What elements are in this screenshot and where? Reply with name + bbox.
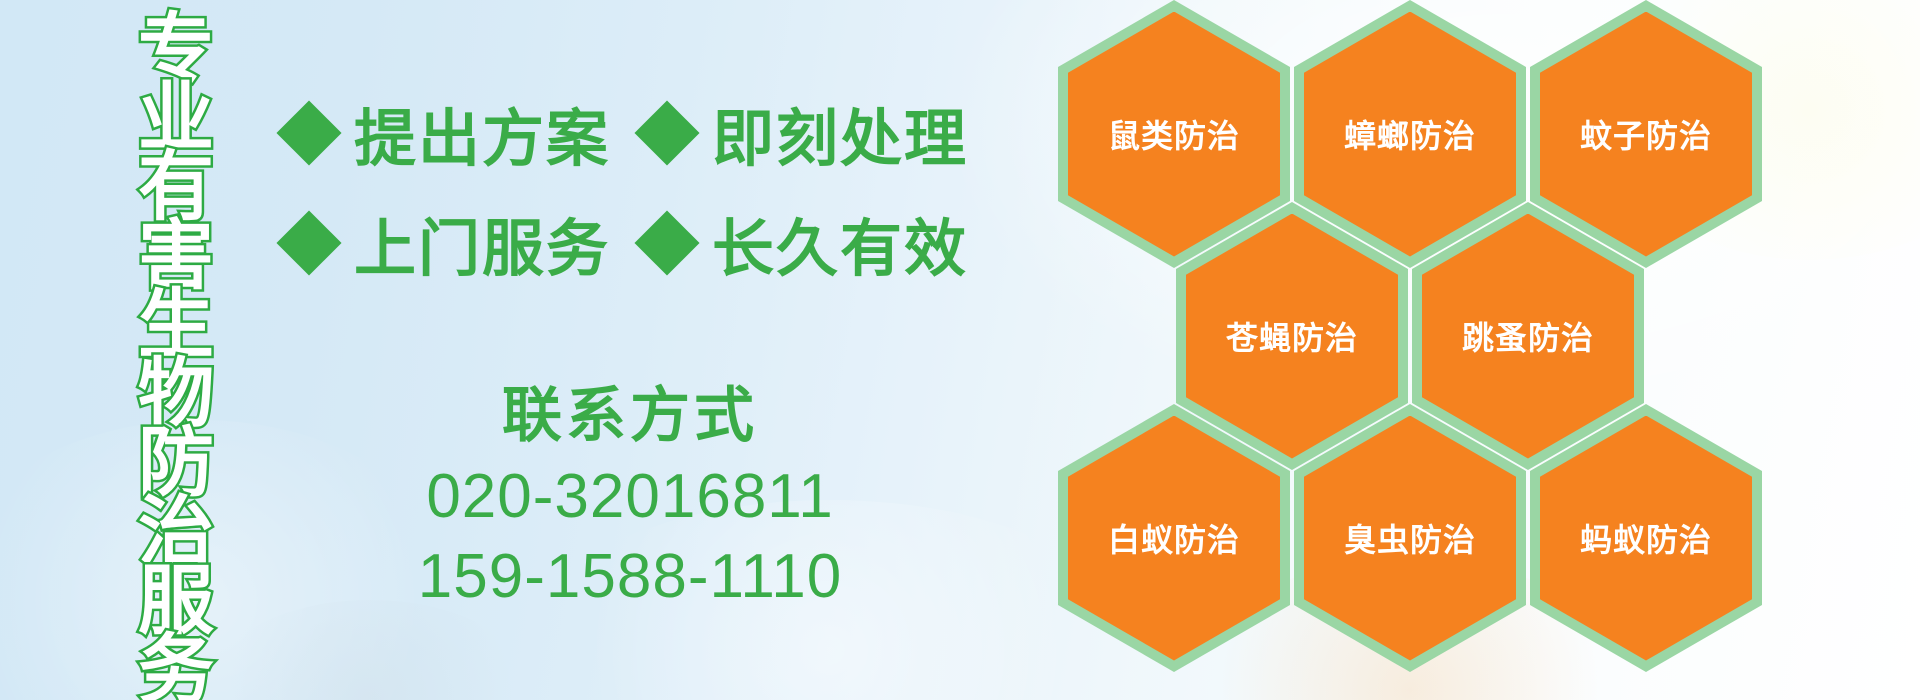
service-hex-grid: 鼠类防治 蟑螂防治 蚊子防治 苍蝇防治 跳蚤防治 白蚁防治 xyxy=(1058,0,1818,700)
contact-heading: 联系方式 xyxy=(300,382,960,449)
service-hex-label: 跳蚤防治 xyxy=(1462,313,1594,359)
service-hex-inner: 鼠类防治 xyxy=(1068,12,1280,257)
vertical-headline-char: 专 xyxy=(138,12,214,81)
service-hex-label: 白蚁防治 xyxy=(1108,515,1240,561)
service-hex-label: 蚂蚁防治 xyxy=(1580,515,1712,561)
vertical-headline-char: 务 xyxy=(138,633,214,700)
vertical-headline-char: 有 xyxy=(138,150,214,219)
service-hex-label: 苍蝇防治 xyxy=(1226,313,1358,359)
service-hex-inner: 臭虫防治 xyxy=(1304,416,1516,661)
service-hex-inner: 蟑螂防治 xyxy=(1304,12,1516,257)
vertical-headline-char: 生 xyxy=(138,288,214,357)
diamond-icon xyxy=(276,210,341,275)
contact-phone-mobile[interactable]: 159-1588-1110 xyxy=(300,537,960,616)
diamond-icon xyxy=(634,100,699,165)
vertical-headline-char: 物 xyxy=(138,357,214,426)
feature-item-label: 提出方案 xyxy=(354,88,610,178)
contact-block: 联系方式 020-32016811 159-1588-1110 xyxy=(300,382,960,616)
feature-item-label: 长久有效 xyxy=(712,198,968,288)
service-hex-inner: 蚊子防治 xyxy=(1540,12,1752,257)
service-hex-inner: 白蚁防治 xyxy=(1068,416,1280,661)
feature-row: 上门服务 长久有效 xyxy=(286,188,1046,298)
service-hex-inner: 跳蚤防治 xyxy=(1422,214,1634,459)
service-hex-label: 臭虫防治 xyxy=(1344,515,1476,561)
service-hex-label: 蚊子防治 xyxy=(1580,111,1712,157)
feature-item-label: 即刻处理 xyxy=(712,88,968,178)
feature-item-label: 上门服务 xyxy=(354,198,610,288)
vertical-headline-char: 业 xyxy=(138,81,214,150)
service-hex-label: 蟑螂防治 xyxy=(1344,111,1476,157)
service-hex-label: 鼠类防治 xyxy=(1108,111,1240,157)
pest-control-banner: 专 业 有 害 生 物 防 治 服 务 提出方案 即刻处理 上门服务 长久有效 … xyxy=(0,0,1920,700)
vertical-headline-char: 害 xyxy=(138,219,214,288)
contact-phone-landline[interactable]: 020-32016811 xyxy=(300,457,960,536)
vertical-headline-char: 服 xyxy=(138,564,214,633)
service-hex-inner: 苍蝇防治 xyxy=(1186,214,1398,459)
vertical-headline: 专 业 有 害 生 物 防 治 服 务 xyxy=(128,12,224,700)
service-hex-inner: 蚂蚁防治 xyxy=(1540,416,1752,661)
diamond-icon xyxy=(634,210,699,275)
vertical-headline-char: 治 xyxy=(138,495,214,564)
feature-row: 提出方案 即刻处理 xyxy=(286,78,1046,188)
vertical-headline-char: 防 xyxy=(138,426,214,495)
diamond-icon xyxy=(276,100,341,165)
feature-list: 提出方案 即刻处理 上门服务 长久有效 xyxy=(286,78,1046,298)
